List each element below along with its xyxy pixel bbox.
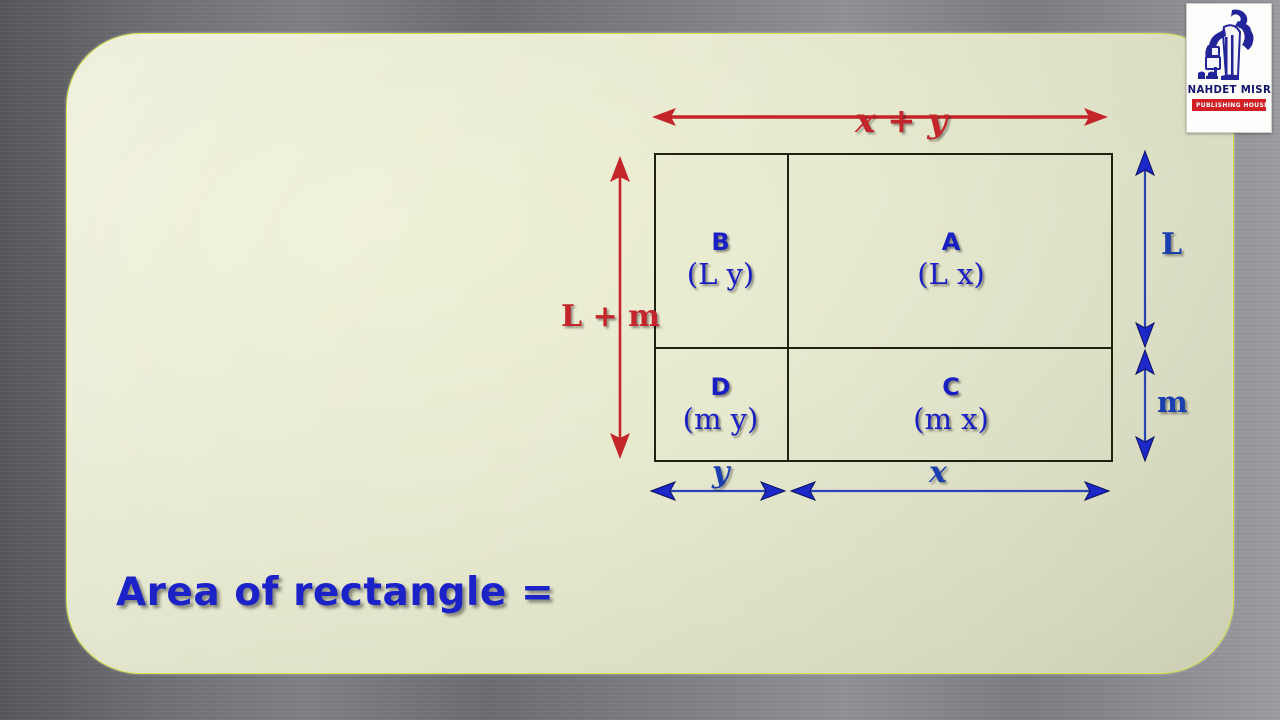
logo-banner-text: PUBLISHING HOUSE xyxy=(1192,99,1266,111)
statue-figure-icon xyxy=(1194,7,1264,81)
logo-name-text: NAHDET MISR xyxy=(1187,83,1270,96)
publisher-logo: NAHDET MISR PUBLISHING HOUSE xyxy=(1186,3,1272,133)
grid-horizontal-divider xyxy=(654,347,1113,349)
area-model-rectangle xyxy=(654,153,1113,462)
grid-vertical-divider xyxy=(787,153,789,462)
slide-stage: NAHDET MISR PUBLISHING HOUSE B (L y) A (… xyxy=(0,0,1280,720)
